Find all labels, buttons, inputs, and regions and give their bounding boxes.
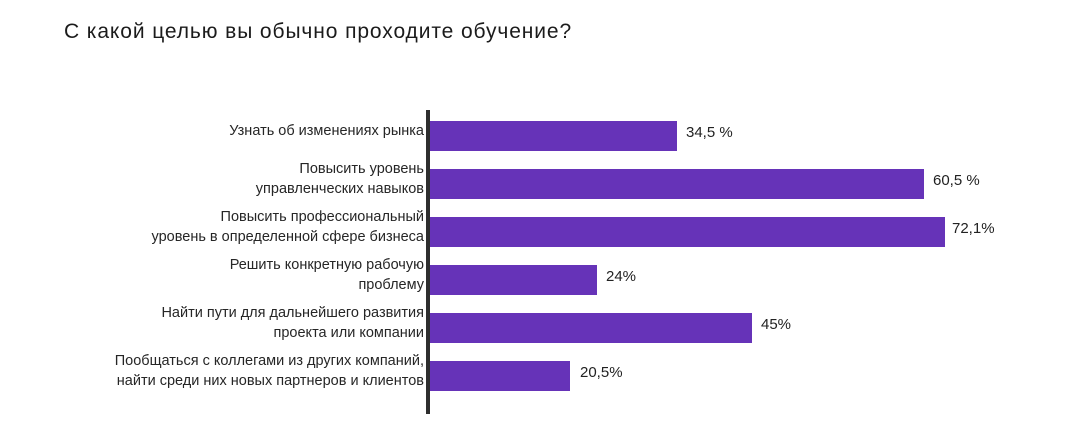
category-label: Найти пути для дальнейшего развития прое… (4, 303, 424, 343)
bar-row: Повысить уровень управленческих навыков … (0, 163, 1066, 211)
bar-value-label: 60,5 % (933, 171, 980, 191)
category-label: Пообщаться с коллегами из других компани… (4, 351, 424, 391)
bar-value-label: 20,5% (580, 363, 623, 383)
bar-segment (430, 313, 752, 343)
bar-segment (430, 121, 677, 151)
bar-value-label: 34,5 % (686, 123, 733, 143)
bar-segment (430, 217, 945, 247)
chart-page: С какой целью вы обычно проходите обучен… (0, 0, 1066, 444)
category-label: Узнать об изменениях рынка (4, 121, 424, 141)
page-title: С какой целью вы обычно проходите обучен… (64, 18, 572, 46)
bar-row: Пообщаться с коллегами из других компани… (0, 355, 1066, 403)
bar-row: Узнать об изменениях рынка 34,5 % (0, 115, 1066, 163)
bar-segment (430, 361, 570, 391)
bar-segment (430, 169, 924, 199)
bar-row: Решить конкретную рабочую проблему 24% (0, 259, 1066, 307)
category-label: Повысить профессиональный уровень в опре… (4, 207, 424, 247)
plot-area: Узнать об изменениях рынка 34,5 % Повыси… (0, 108, 1066, 420)
bar-row: Найти пути для дальнейшего развития прое… (0, 307, 1066, 355)
bar-value-label: 45% (761, 315, 791, 335)
bar-value-label: 72,1% (952, 219, 995, 239)
bar-rows: Узнать об изменениях рынка 34,5 % Повыси… (0, 108, 1066, 420)
category-label: Повысить уровень управленческих навыков (4, 159, 424, 199)
bar-segment (430, 265, 597, 295)
category-label: Решить конкретную рабочую проблему (4, 255, 424, 295)
bar-row: Повысить профессиональный уровень в опре… (0, 211, 1066, 259)
bar-value-label: 24% (606, 267, 636, 287)
